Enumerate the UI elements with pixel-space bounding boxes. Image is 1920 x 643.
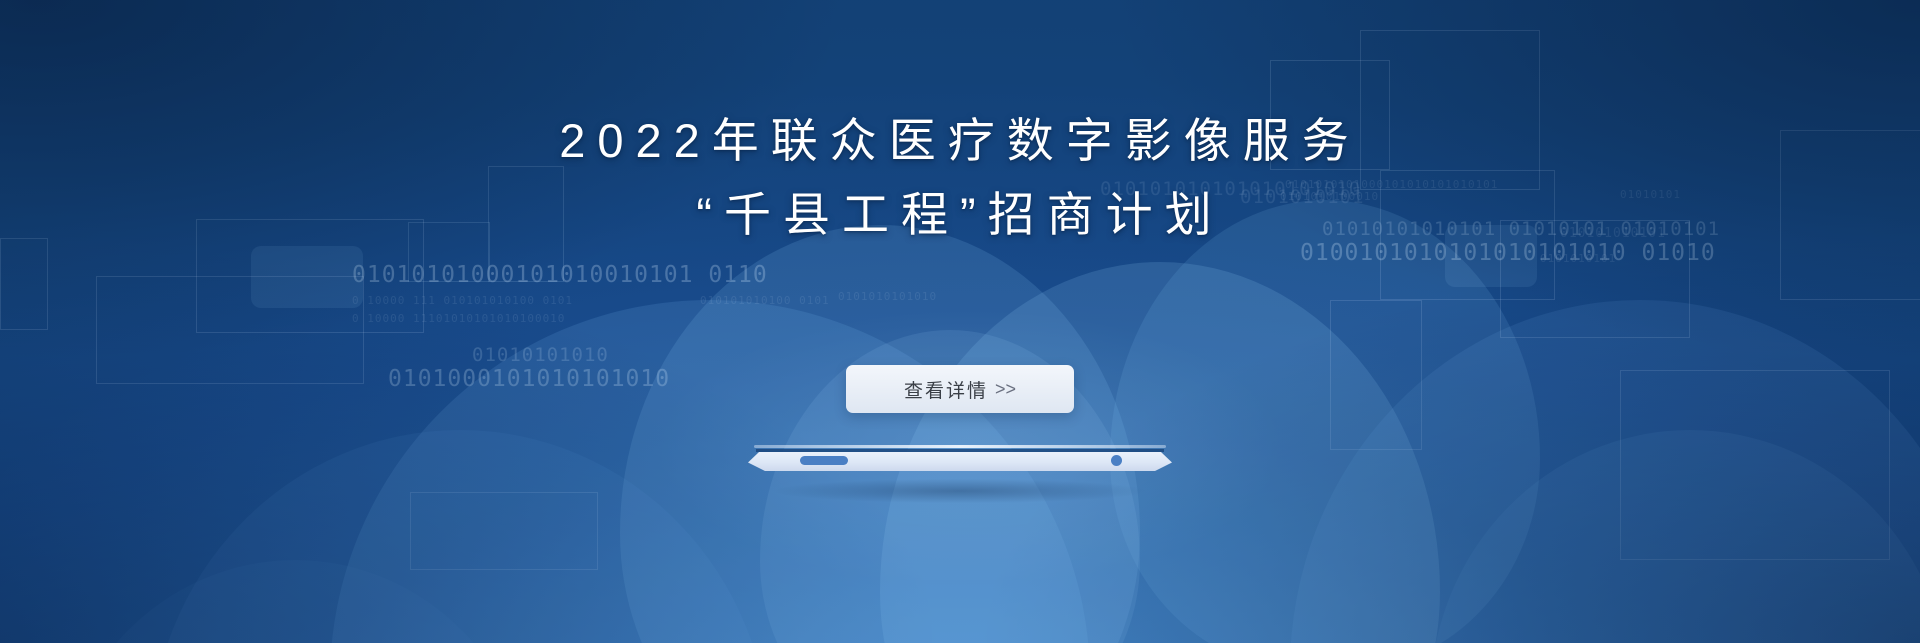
laptop-touchpad-icon (800, 456, 848, 465)
laptop-hinge-gap (756, 449, 1164, 452)
promo-banner: 01010101000101010010101 0110 0 10000 111… (0, 0, 1920, 643)
binary-text: 0101010101 (1540, 252, 1616, 265)
headline-line-2: “千县工程”招商计划 (0, 178, 1920, 252)
laptop-indicator-dot-icon (1111, 455, 1122, 466)
binary-text: 010101010100 0101 (700, 294, 830, 307)
view-details-button[interactable]: 查看详情 >> (846, 365, 1074, 413)
laptop-base-graphic (748, 445, 1172, 475)
binary-decorations: 01010101000101010010101 0110 0 10000 111… (0, 0, 1920, 643)
headline-line-1: 2022年联众医疗数字影像服务 (0, 104, 1920, 178)
banner-headline: 2022年联众医疗数字影像服务 “千县工程”招商计划 (0, 104, 1920, 252)
binary-text: 0 10000 111 010101010100 0101 (352, 294, 573, 307)
binary-text: 0 10000 11101010101010100010 (352, 312, 565, 325)
laptop-lid-edge (754, 445, 1166, 448)
cta-container: 查看详情 >> (0, 365, 1920, 413)
device-shadow (700, 474, 1220, 508)
view-details-label: 查看详情 (904, 376, 988, 403)
binary-text: 01010101010 (472, 344, 609, 366)
binary-text: 0101010101010 (838, 290, 937, 303)
double-chevron-right-icon: >> (995, 379, 1016, 400)
binary-text: 01010101000101010010101 0110 (352, 262, 768, 288)
